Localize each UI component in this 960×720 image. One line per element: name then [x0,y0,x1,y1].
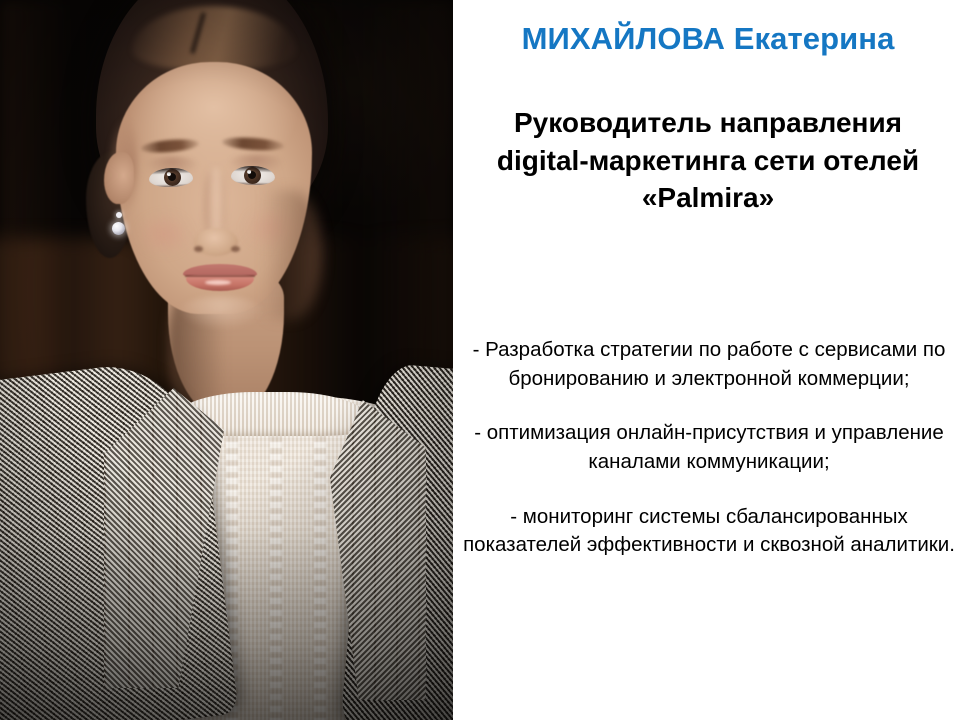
speaker-portrait-photo [0,0,453,720]
speaker-name-title: МИХАЙЛОВА Екатерина [463,22,953,56]
photo-vignette [0,0,453,720]
duties-list: - Разработка стратегии по работе с серви… [463,336,955,560]
duty-item: - Разработка стратегии по работе с серви… [463,336,955,393]
presentation-slide: МИХАЙЛОВА Екатерина Руководитель направл… [0,0,960,720]
duty-item: - оптимизация онлайн-присутствия и управ… [463,419,955,476]
slide-text-pane: МИХАЙЛОВА Екатерина Руководитель направл… [453,0,960,720]
duty-item: - мониторинг системы сбалансированных по… [463,503,955,560]
speaker-role: Руководитель направления digital-маркети… [471,104,945,217]
